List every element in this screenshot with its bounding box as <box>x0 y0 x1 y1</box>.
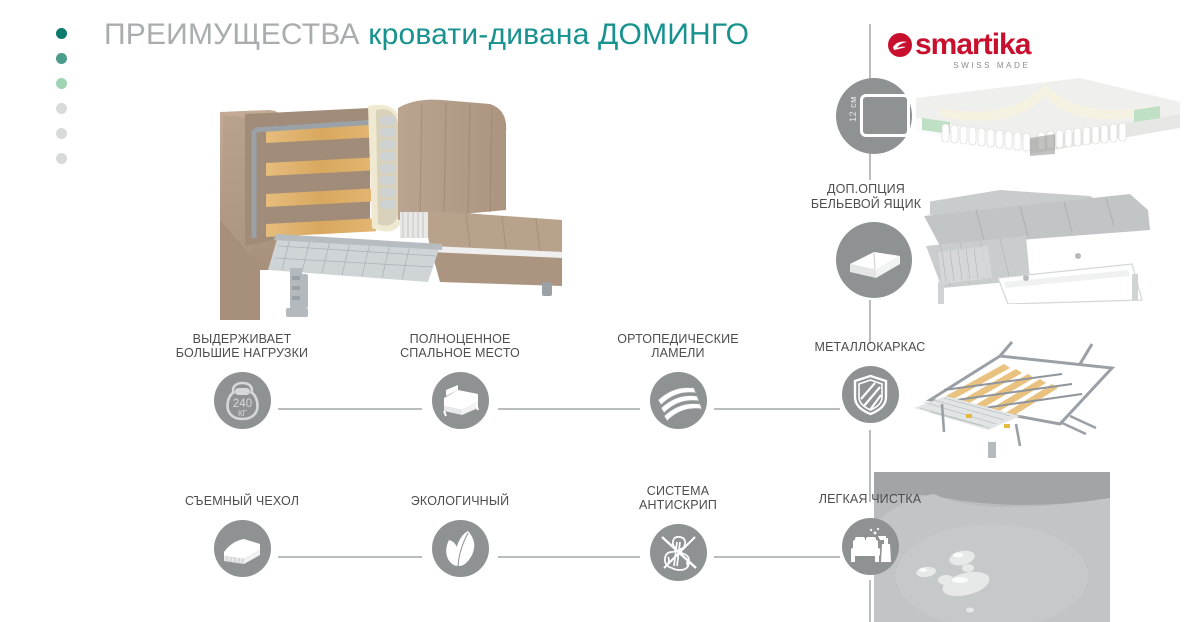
page-title-product: кровати-дивана ДОМИНГО <box>368 18 749 51</box>
thickness-value: 12 см <box>848 96 858 122</box>
page-title-prefix: ПРЕИМУЩЕСТВА <box>104 18 368 51</box>
kettlebell-icon: 240 КГ <box>214 372 271 429</box>
feature-frame: МЕТАЛЛОКАРКАС <box>780 340 960 423</box>
progress-dot-2[interactable] <box>56 53 67 64</box>
feature-clean: ЛЕГКАЯ ЧИСТКА <box>780 492 960 575</box>
no-squeak-violin-icon <box>650 524 707 581</box>
shield-icon <box>842 366 899 423</box>
thickness-rect-outline <box>860 94 910 137</box>
smartika-wordmark: smartika <box>915 28 1030 61</box>
progress-dot-5[interactable] <box>56 128 67 139</box>
feature-eco: ЭКОЛОГИЧНЫЙ <box>370 494 550 577</box>
slide-root: ПРЕИМУЩЕСТВА кровати-дивана ДОМИНГО <box>0 0 1200 622</box>
drawer-option-label: ДОП.ОПЦИЯ БЕЛЬЕВОЙ ЯЩИК <box>802 180 930 214</box>
mattress-photo <box>880 62 1200 162</box>
right-column-connector-top <box>869 24 871 82</box>
feature-slats-label: ОРТОПЕДИЧЕСКИЕ ЛАМЕЛИ <box>588 332 768 360</box>
smartika-brand-name: smartika <box>888 30 1030 60</box>
leaves-icon <box>432 520 489 577</box>
feature-load: ВЫДЕРЖИВАЕТ БОЛЬШИЕ НАГРУЗКИ 240 КГ <box>152 332 332 429</box>
progress-dot-column <box>56 28 72 178</box>
smartika-mark-icon <box>888 33 912 57</box>
smartika-tagline: SWISS MADE <box>888 61 1030 70</box>
feature-sleep: ПОЛНОЦЕННОЕ СПАЛЬНОЕ МЕСТО <box>370 332 550 429</box>
feature-cover: СЪЕМНЫЙ ЧЕХОЛ <box>152 494 332 577</box>
feature-noise-label: СИСТЕМА АНТИСКРИП <box>588 484 768 512</box>
feature-sleep-label: ПОЛНОЦЕННОЕ СПАЛЬНОЕ МЕСТО <box>370 332 550 360</box>
feature-cover-label: СЪЕМНЫЙ ЧЕХОЛ <box>152 494 332 508</box>
feature-eco-label: ЭКОЛОГИЧНЫЙ <box>370 494 550 508</box>
feature-load-label: ВЫДЕРЖИВАЕТ БОЛЬШИЕ НАГРУЗКИ <box>152 332 332 360</box>
sofa-spray-icon <box>842 518 899 575</box>
feature-frame-label: МЕТАЛЛОКАРКАС <box>780 340 960 354</box>
hero-product-image <box>190 70 590 320</box>
slats-icon <box>650 372 707 429</box>
smartika-logo: smartika SWISS MADE <box>888 30 1030 70</box>
linen-drawer-icon <box>836 222 912 298</box>
progress-dot-4[interactable] <box>56 103 67 114</box>
feature-slats: ОРТОПЕДИЧЕСКИЕ ЛАМЕЛИ <box>588 332 768 429</box>
kettlebell-weight-unit: КГ <box>238 409 248 418</box>
bed-icon <box>432 372 489 429</box>
feature-clean-label: ЛЕГКАЯ ЧИСТКА <box>780 492 960 506</box>
right-column-connector-bottom <box>869 580 871 622</box>
progress-dot-3[interactable] <box>56 78 67 89</box>
feature-noise: СИСТЕМА АНТИСКРИП <box>588 484 768 581</box>
progress-dot-1[interactable] <box>56 28 67 39</box>
right-column-connector-mid2 <box>869 300 871 344</box>
progress-dot-6[interactable] <box>56 153 67 164</box>
mattress-cover-icon <box>214 520 271 577</box>
page-title: ПРЕИМУЩЕСТВА кровати-дивана ДОМИНГО <box>104 18 749 52</box>
mattress-thickness-icon: 12 см <box>836 78 912 154</box>
